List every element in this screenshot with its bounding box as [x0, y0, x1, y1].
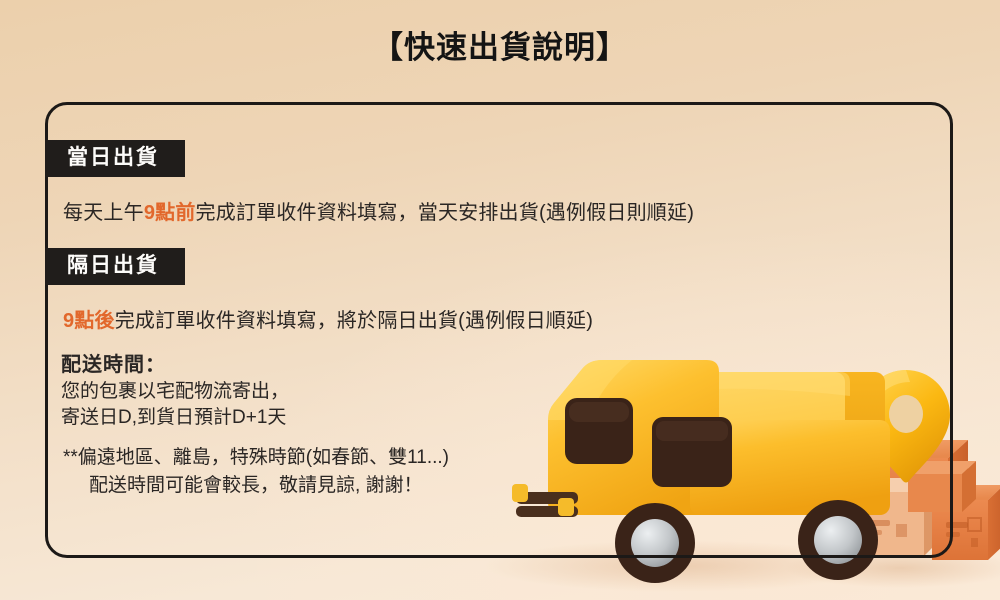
cardboard-boxes [823, 440, 1000, 560]
truck-rear-wheel [798, 500, 878, 580]
location-pin [862, 370, 950, 483]
next-day-cutoff-time: 9點後 [63, 310, 115, 332]
next-day-suffix: 完成訂單收件資料填寫，將於隔日出貨(遇例假日順延) [115, 310, 593, 332]
box-upper-left [823, 442, 908, 526]
remote-area-note-line-2: 配送時間可能會較長，敬請見諒, 謝謝！ [63, 472, 449, 500]
same-day-cutoff-time: 9點前 [144, 202, 196, 224]
badge-same-day-shipping: 當日出貨 [45, 140, 185, 177]
box-lower-right [932, 485, 1000, 560]
remote-area-note-line-1: **偏遠地區、離島，特殊時節(如春節、雙11...) [63, 444, 449, 472]
same-day-prefix: 每天上午 [63, 202, 144, 224]
box-open-front [846, 466, 954, 556]
next-day-shipping-text: 9點後完成訂單收件資料填寫，將於隔日出貨(遇例假日順延) [63, 304, 593, 333]
same-day-shipping-text: 每天上午9點前完成訂單收件資料填寫，當天安排出貨(遇例假日則順延) [63, 196, 694, 225]
same-day-suffix: 完成訂單收件資料填寫，當天安排出貨(遇例假日則順延) [196, 202, 695, 224]
delivery-line-2: 寄送日D,到貨日預計D+1天 [61, 405, 289, 431]
badge-next-day-shipping: 隔日出貨 [45, 248, 185, 285]
truck-cargo-box [655, 372, 885, 514]
delivery-time-heading: 配送時間： [61, 348, 289, 377]
ground-shadow-boxes [785, 548, 1000, 588]
delivery-line-1: 您的包裹以宅配物流寄出， [61, 379, 289, 405]
card-content: 當日出貨 每天上午9點前完成訂單收件資料填寫，當天安排出貨(遇例假日則順延) 隔… [45, 102, 685, 558]
box-mid-small [908, 461, 976, 512]
box-upper-right [888, 440, 968, 522]
page-title: 【快速出貨說明】 [0, 22, 1000, 67]
remote-area-note: **偏遠地區、離島，特殊時節(如春節、雙11...) 配送時間可能會較長，敬請見… [63, 444, 449, 499]
delivery-time-block: 配送時間： 您的包裹以宅配物流寄出， 寄送日D,到貨日預計D+1天 [61, 348, 289, 430]
